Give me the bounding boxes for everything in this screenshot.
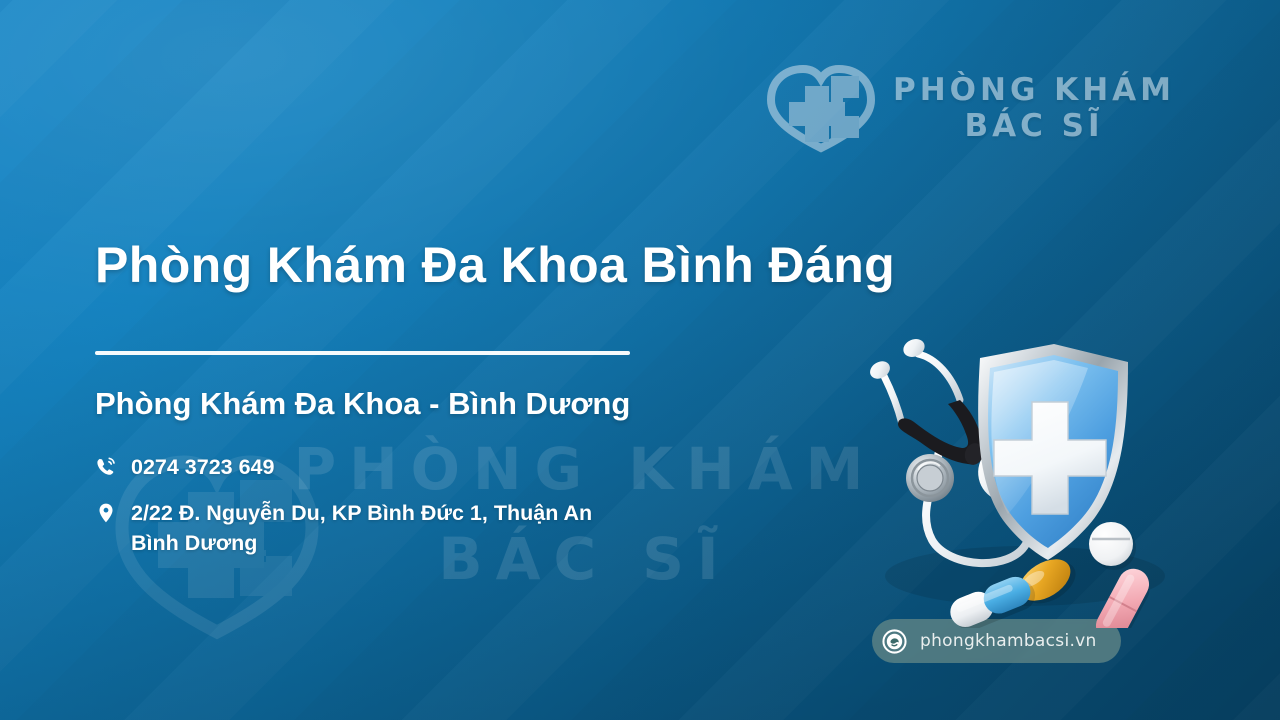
phone-ringing-icon	[95, 454, 117, 480]
brand-logo-line-2: BÁC SĨ	[893, 108, 1175, 144]
brand-logo-text: PHÒNG KHÁM BÁC SĨ	[893, 72, 1175, 144]
contact-phone-text: 0274 3723 649	[131, 452, 274, 482]
globe-icon	[882, 629, 907, 654]
heart-cross-logo-icon	[765, 62, 877, 154]
title-divider	[95, 351, 630, 355]
map-pin-icon	[95, 500, 117, 526]
clinic-banner: PHÒNG KHÁM BÁC SĨ PHÒNG KHÁM BÁC SĨ Phòn…	[0, 0, 1280, 720]
brand-logo-line-1: PHÒNG KHÁM	[893, 72, 1175, 108]
medical-illustration	[840, 318, 1180, 628]
contact-address-text: 2/22 Đ. Nguyễn Du, KP Bình Đức 1, Thuận …	[131, 498, 592, 558]
contact-block: 0274 3723 649 2/22 Đ. Nguyễn Du, KP Bình…	[95, 452, 735, 574]
brand-logo: PHÒNG KHÁM BÁC SĨ	[765, 62, 1175, 154]
contact-address-row[interactable]: 2/22 Đ. Nguyễn Du, KP Bình Đức 1, Thuận …	[95, 498, 735, 558]
website-url-text: phongkhambacsi.vn	[920, 631, 1097, 651]
page-title: Phòng Khám Đa Khoa Bình Đáng	[95, 234, 895, 296]
contact-phone-row[interactable]: 0274 3723 649	[95, 452, 735, 482]
page-subtitle: Phòng Khám Đa Khoa - Bình Dương	[95, 383, 630, 425]
